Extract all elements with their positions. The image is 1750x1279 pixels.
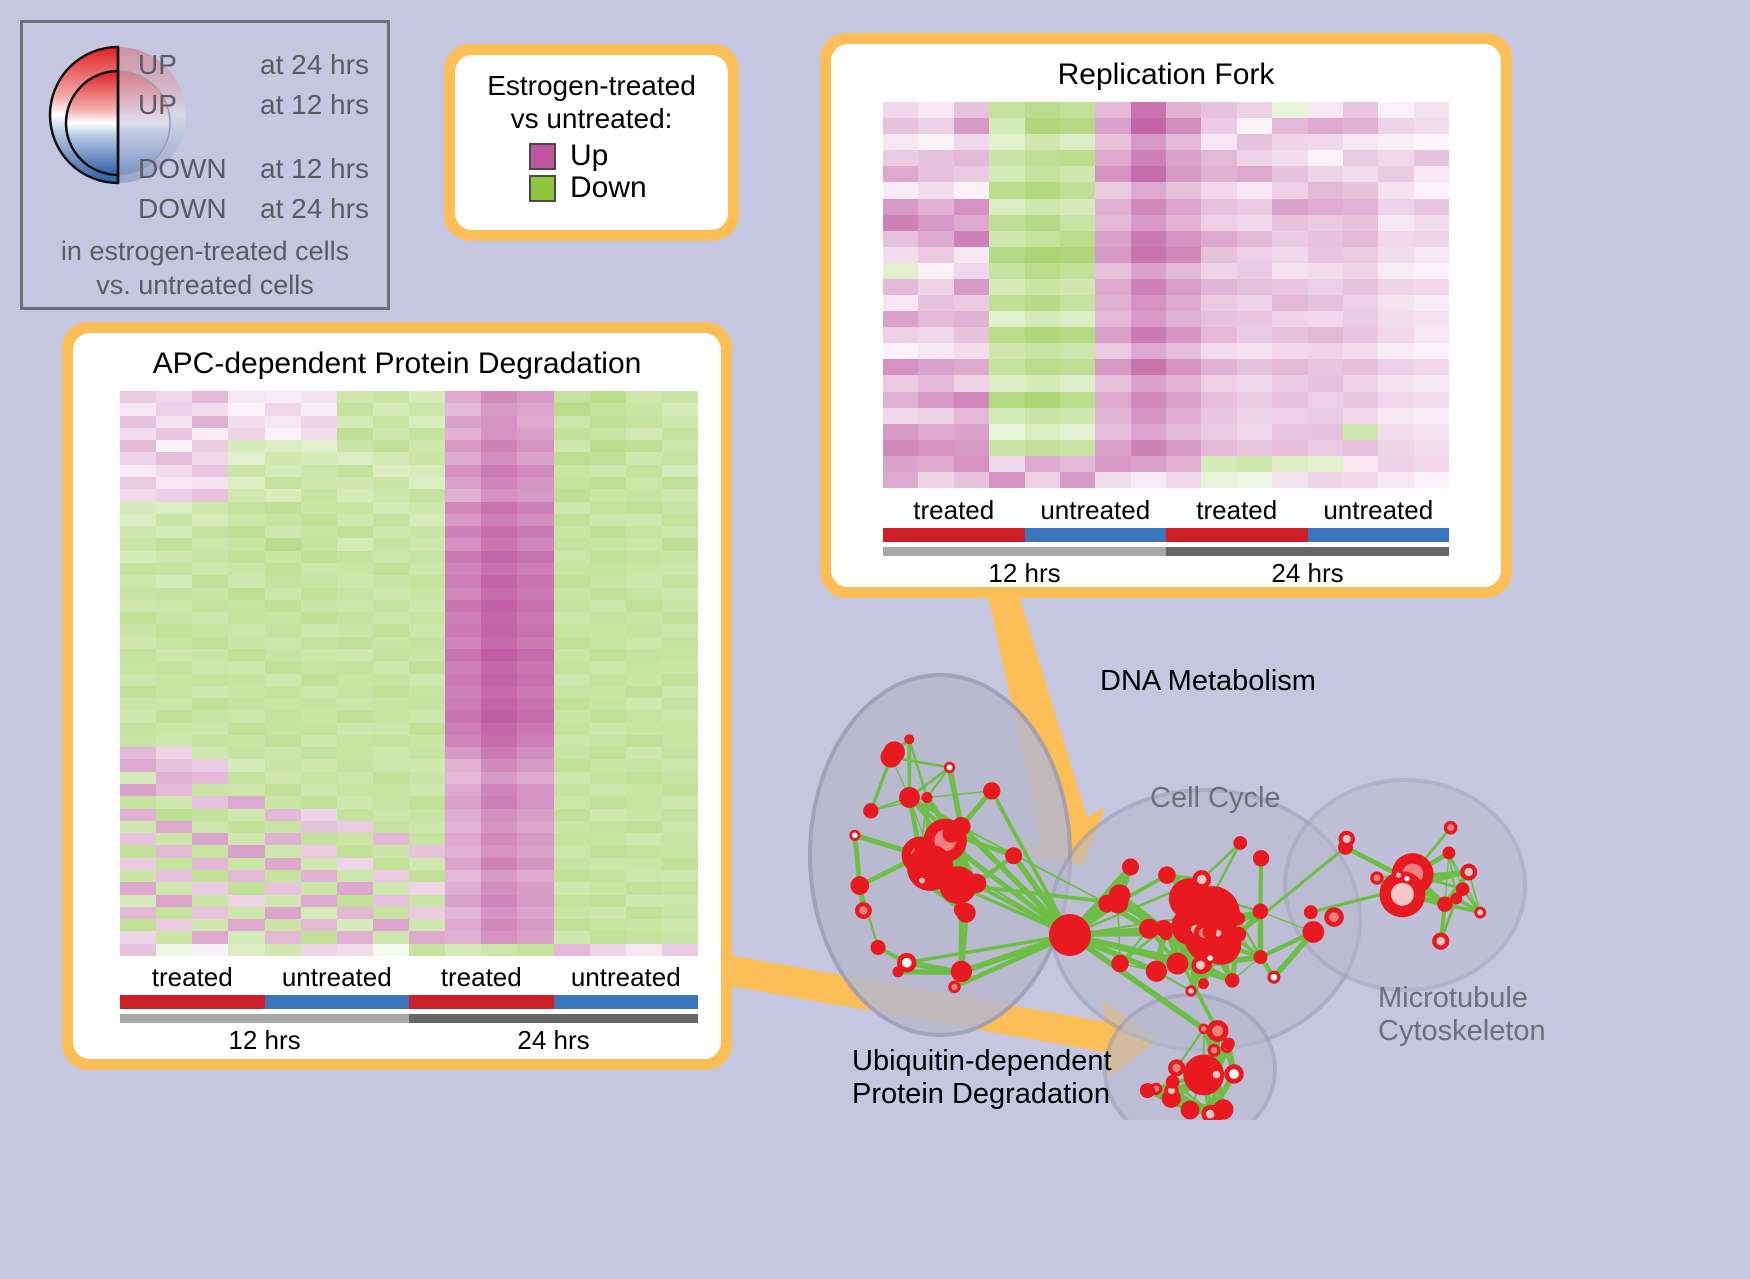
heatmap-cell: [409, 944, 445, 956]
heatmap-cell: [1272, 263, 1307, 279]
heatmap-cell: [1272, 166, 1307, 182]
heatmap-cell: [1272, 472, 1307, 488]
heatmap-cell: [481, 772, 517, 784]
heatmap-cell: [517, 465, 553, 477]
heatmap-cell: [1414, 102, 1449, 118]
heatmap-cell: [337, 428, 373, 440]
heatmap-cell: [590, 538, 626, 550]
heatmap-cell: [192, 858, 228, 870]
heatmap-cell: [662, 637, 698, 649]
heatmap-cell: [337, 723, 373, 735]
heatmap-cell: [1201, 263, 1236, 279]
heatmap-cell: [481, 882, 517, 894]
heatmap-cell: [517, 489, 553, 501]
heatmap-cell: [1272, 327, 1307, 343]
heatmap-cell: [445, 624, 481, 636]
heatmap-cell: [1095, 182, 1130, 198]
heatmap-cell: [373, 907, 409, 919]
heatmap-cell: [481, 796, 517, 808]
heatmap-cell: [156, 649, 192, 661]
heatmap-cell: [301, 637, 337, 649]
heatmap-cell: [517, 649, 553, 661]
heatmap-cell: [301, 440, 337, 452]
heatmap-cell: [1343, 166, 1378, 182]
heatmap-cell: [1308, 102, 1343, 118]
heatmap-cell: [120, 452, 156, 464]
heatmap-cell: [301, 809, 337, 821]
heatmap-cell: [481, 944, 517, 956]
heatmap-group-bar: [409, 995, 554, 1009]
heatmap-cell: [1272, 311, 1307, 327]
network-node: [884, 741, 905, 762]
heatmap-cell: [373, 735, 409, 747]
heatmap-cell: [1343, 295, 1378, 311]
heatmap-cell: [883, 182, 918, 198]
heatmap-cell: [918, 166, 953, 182]
heatmap-cell: [1378, 408, 1413, 424]
legend-swatch-up-icon: [529, 143, 556, 170]
heatmap-cell: [989, 279, 1024, 295]
heatmap-cell: [337, 784, 373, 796]
heatmap-cell: [517, 575, 553, 587]
heatmap-cell: [481, 845, 517, 857]
heatmap-cell: [883, 327, 918, 343]
heatmap-cell: [1414, 327, 1449, 343]
heatmap-cell: [1060, 456, 1095, 472]
heatmap-cell: [228, 735, 264, 747]
heatmap-cell: [120, 735, 156, 747]
key-direction-1: UP: [138, 91, 177, 119]
heatmap-cell: [1414, 247, 1449, 263]
heatmap-cell: [1414, 311, 1449, 327]
heatmap-cell: [554, 919, 590, 931]
cluster-label-microtubule-line2: Cytoskeleton: [1378, 1015, 1546, 1048]
heatmap-cell: [1272, 408, 1307, 424]
heatmap-cell: [120, 661, 156, 673]
heatmap-cell: [445, 858, 481, 870]
heatmap-cell: [156, 551, 192, 563]
heatmap-cell: [590, 833, 626, 845]
heatmap-cell: [554, 710, 590, 722]
heatmap-cell: [918, 327, 953, 343]
heatmap-cell: [1025, 295, 1060, 311]
heatmap-cell: [918, 215, 953, 231]
heatmap-cell: [883, 263, 918, 279]
heatmap-cell: [1166, 166, 1201, 182]
heatmap-cell: [590, 698, 626, 710]
heatmap-cell: [1414, 472, 1449, 488]
heatmap-cell: [1025, 408, 1060, 424]
heatmap-cell: [445, 637, 481, 649]
legend-label-down: Down: [570, 173, 647, 203]
heatmap-cell: [301, 661, 337, 673]
heatmap-cell: [1025, 424, 1060, 440]
heatmap-cell: [228, 612, 264, 624]
heatmap-cell: [156, 882, 192, 894]
heatmap-cell: [120, 747, 156, 759]
heatmap-cell: [1166, 424, 1201, 440]
heatmap-cell: [517, 391, 553, 403]
heatmap-cell: [409, 624, 445, 636]
heatmap-cell: [265, 809, 301, 821]
heatmap-cell: [1272, 279, 1307, 295]
heatmap-cell: [1308, 359, 1343, 375]
heatmap-cell: [445, 538, 481, 550]
heatmap-cell: [120, 882, 156, 894]
heatmap-cell: [301, 452, 337, 464]
heatmap-cell: [192, 465, 228, 477]
heatmap-cell: [1343, 408, 1378, 424]
heatmap-cell: [1201, 440, 1236, 456]
heatmap-cell: [1060, 279, 1095, 295]
heatmap-cell: [1060, 263, 1095, 279]
heatmap-cell: [409, 575, 445, 587]
heatmap-cell: [989, 392, 1024, 408]
heatmap-cell: [120, 833, 156, 845]
heatmap-cell: [918, 102, 953, 118]
network-node: [855, 902, 872, 919]
heatmap-cell: [1095, 279, 1130, 295]
heatmap-cell: [192, 710, 228, 722]
heatmap-cell: [554, 391, 590, 403]
heatmap-group-label: treated: [883, 496, 1025, 526]
heatmap-cell: [662, 428, 698, 440]
apc-axis: treateduntreatedtreateduntreated 12 hrs2…: [120, 963, 698, 1056]
network-node: [1198, 978, 1209, 989]
network-node: [850, 876, 869, 895]
heatmap-cell: [373, 919, 409, 931]
heatmap-cell: [156, 821, 192, 833]
heatmap-cell: [265, 649, 301, 661]
network-node: [863, 803, 878, 818]
heatmap-cell: [120, 784, 156, 796]
heatmap-cell: [156, 416, 192, 428]
heatmap-cell: [517, 858, 553, 870]
heatmap-cell: [156, 907, 192, 919]
heatmap-cell: [120, 919, 156, 931]
heatmap-cell: [989, 134, 1024, 150]
heatmap-cell: [517, 919, 553, 931]
heatmap-cell: [481, 514, 517, 526]
heatmap-cell: [265, 674, 301, 686]
heatmap-cell: [554, 452, 590, 464]
heatmap-cell: [1414, 440, 1449, 456]
heatmap-cell: [1414, 408, 1449, 424]
heatmap-cell: [517, 895, 553, 907]
heatmap-cell: [301, 710, 337, 722]
heatmap-cell: [1414, 182, 1449, 198]
heatmap-cell: [337, 907, 373, 919]
heatmap-cell: [662, 845, 698, 857]
heatmap-cell: [409, 870, 445, 882]
heatmap-cell: [192, 588, 228, 600]
heatmap-cell: [554, 858, 590, 870]
heatmap-cell: [337, 489, 373, 501]
network-node: [1206, 891, 1218, 903]
heatmap-cell: [301, 403, 337, 415]
heatmap-cell: [517, 870, 553, 882]
heatmap-cell: [662, 502, 698, 514]
heatmap-cell: [192, 833, 228, 845]
heatmap-cell: [662, 452, 698, 464]
heatmap-cell: [590, 870, 626, 882]
heatmap-cell: [1308, 215, 1343, 231]
heatmap-cell: [1272, 199, 1307, 215]
heatmap-cell: [373, 833, 409, 845]
heatmap-cell: [228, 563, 264, 575]
heatmap-cell: [1025, 392, 1060, 408]
heatmap-cell: [120, 563, 156, 575]
heatmap-cell: [989, 247, 1024, 263]
heatmap-cell: [373, 698, 409, 710]
heatmap-cell: [1095, 263, 1130, 279]
heatmap-cell: [156, 637, 192, 649]
heatmap-cell: [265, 575, 301, 587]
network-node: [904, 734, 914, 744]
heatmap-cell: [228, 895, 264, 907]
heatmap-cell: [1343, 182, 1378, 198]
heatmap-cell: [517, 514, 553, 526]
heatmap-cell: [373, 759, 409, 771]
heatmap-cell: [373, 477, 409, 489]
network-node: [1192, 870, 1211, 889]
heatmap-cell: [554, 735, 590, 747]
heatmap-cell: [1414, 199, 1449, 215]
heatmap-cell: [409, 514, 445, 526]
heatmap-cell: [662, 796, 698, 808]
heatmap-cell: [626, 735, 662, 747]
network-node: [956, 903, 976, 923]
heatmap-cell: [883, 456, 918, 472]
heatmap-cell: [662, 895, 698, 907]
network-node: [1267, 971, 1280, 984]
heatmap-cell: [1237, 295, 1272, 311]
heatmap-cell: [883, 472, 918, 488]
heatmap-cell: [554, 944, 590, 956]
heatmap-cell: [1343, 118, 1378, 134]
heatmap-cell: [156, 845, 192, 857]
heatmap-cell: [517, 931, 553, 943]
heatmap-cell: [120, 772, 156, 784]
cluster-label-cell-cycle: Cell Cycle: [1150, 782, 1281, 815]
heatmap-cell: [1131, 102, 1166, 118]
legend-swatch-down-icon: [529, 175, 556, 202]
heatmap-cell: [662, 440, 698, 452]
heatmap-cell: [192, 391, 228, 403]
heatmap-cell: [1343, 343, 1378, 359]
heatmap-cell: [1025, 343, 1060, 359]
heatmap-cell: [409, 428, 445, 440]
heatmap-cell: [1343, 215, 1378, 231]
heatmap-cell: [1025, 327, 1060, 343]
heatmap-cell: [626, 944, 662, 956]
heatmap-cell: [1237, 472, 1272, 488]
heatmap-cell: [626, 649, 662, 661]
heatmap-cell: [1166, 327, 1201, 343]
heatmap-cell: [1272, 359, 1307, 375]
heatmap-cell: [918, 424, 953, 440]
heatmap-cell: [156, 759, 192, 771]
heatmap-cell: [1201, 392, 1236, 408]
heatmap-cell: [445, 575, 481, 587]
heatmap-cell: [626, 502, 662, 514]
heatmap-cell: [626, 440, 662, 452]
heatmap-cell: [373, 391, 409, 403]
heatmap-cell: [1025, 102, 1060, 118]
heatmap-cell: [1378, 375, 1413, 391]
heatmap-cell: [373, 870, 409, 882]
heatmap-cell: [373, 416, 409, 428]
heatmap-cell: [156, 403, 192, 415]
heatmap-cell: [1060, 472, 1095, 488]
heatmap-cell: [228, 624, 264, 636]
heatmap-group-label: treated: [409, 963, 554, 993]
heatmap-cell: [626, 686, 662, 698]
heatmap-cell: [590, 416, 626, 428]
heatmap-cell: [662, 882, 698, 894]
heatmap-cell: [1025, 118, 1060, 134]
heatmap-cell: [883, 295, 918, 311]
heatmap-cell: [301, 477, 337, 489]
heatmap-cell: [918, 359, 953, 375]
heatmap-cell: [301, 870, 337, 882]
heatmap-cell: [883, 199, 918, 215]
heatmap-cell: [192, 428, 228, 440]
heatmap-cell: [989, 295, 1024, 311]
heatmap-cell: [626, 821, 662, 833]
heatmap-cell: [156, 391, 192, 403]
heatmap-cell: [1095, 199, 1130, 215]
heatmap-cell: [481, 575, 517, 587]
heatmap-cell: [626, 551, 662, 563]
heatmap-cell: [337, 833, 373, 845]
heatmap-cell: [554, 440, 590, 452]
heatmap-cell: [481, 637, 517, 649]
heatmap-cell: [1308, 247, 1343, 263]
heatmap-cell: [1131, 343, 1166, 359]
heatmap-cell: [626, 845, 662, 857]
heatmap-cell: [590, 465, 626, 477]
heatmap-cell: [228, 723, 264, 735]
heatmap-cell: [626, 674, 662, 686]
heatmap-cell: [1025, 472, 1060, 488]
heatmap-cell: [409, 563, 445, 575]
heatmap-cell: [1201, 166, 1236, 182]
heatmap-cell: [626, 772, 662, 784]
heatmap-cell: [156, 833, 192, 845]
heatmap-cell: [517, 477, 553, 489]
heatmap-cell: [1378, 102, 1413, 118]
heatmap-cell: [301, 588, 337, 600]
heatmap-cell: [1272, 440, 1307, 456]
heatmap-cell: [554, 833, 590, 845]
heatmap-cell: [590, 686, 626, 698]
heatmap-cell: [481, 416, 517, 428]
heatmap-cell: [554, 931, 590, 943]
heatmap-cell: [1272, 215, 1307, 231]
heatmap-cell: [265, 624, 301, 636]
heatmap-cell: [1343, 102, 1378, 118]
heatmap-cell: [554, 821, 590, 833]
heatmap-cell: [1131, 247, 1166, 263]
heatmap-cell: [337, 526, 373, 538]
heatmap-group-bar: [1308, 528, 1450, 542]
heatmap-cell: [1308, 392, 1343, 408]
heatmap-cell: [1166, 472, 1201, 488]
heatmap-cell: [192, 784, 228, 796]
heatmap-cell: [156, 723, 192, 735]
heatmap-cell: [517, 452, 553, 464]
heatmap-cell: [409, 723, 445, 735]
heatmap-cell: [517, 661, 553, 673]
network-node: [1122, 859, 1139, 876]
heatmap-cell: [626, 403, 662, 415]
heatmap-cell: [626, 465, 662, 477]
heatmap-cell: [1378, 247, 1413, 263]
heatmap-cell: [265, 931, 301, 943]
heatmap-cell: [1414, 295, 1449, 311]
heatmap-cell: [481, 907, 517, 919]
heatmap-cell: [265, 391, 301, 403]
heatmap-cell: [120, 465, 156, 477]
heatmap-cell: [156, 698, 192, 710]
heatmap-cell: [1025, 279, 1060, 295]
heatmap-cell: [626, 784, 662, 796]
heatmap-cell: [1166, 263, 1201, 279]
heatmap-cell: [626, 907, 662, 919]
heatmap-cell: [1025, 215, 1060, 231]
heatmap-cell: [120, 809, 156, 821]
heatmap-cell: [192, 809, 228, 821]
heatmap-cell: [373, 489, 409, 501]
heatmap-cell: [1166, 408, 1201, 424]
network-node: [1224, 1064, 1244, 1084]
heatmap-cell: [192, 477, 228, 489]
heatmap-cell: [626, 588, 662, 600]
network-node: [1181, 1101, 1200, 1120]
heatmap-cell: [517, 698, 553, 710]
heatmap-cell: [445, 674, 481, 686]
heatmap-cell: [1378, 456, 1413, 472]
heatmap-cell: [517, 747, 553, 759]
heatmap-cell: [1060, 199, 1095, 215]
heatmap-cell: [409, 796, 445, 808]
heatmap-cell: [918, 231, 953, 247]
heatmap-cell: [554, 551, 590, 563]
key-time-3: at 24 hrs: [260, 195, 369, 223]
heatmap-cell: [156, 895, 192, 907]
legend-item-down: Down: [529, 173, 728, 203]
heatmap-cell: [481, 686, 517, 698]
heatmap-cell: [409, 858, 445, 870]
heatmap-cell: [337, 477, 373, 489]
heatmap-cell: [590, 723, 626, 735]
heatmap-cell: [481, 526, 517, 538]
heatmap-cell: [590, 588, 626, 600]
heatmap-cell: [337, 624, 373, 636]
heatmap-cell: [1378, 472, 1413, 488]
heatmap-cell: [590, 600, 626, 612]
heatmap-cell: [337, 588, 373, 600]
heatmap-cell: [301, 931, 337, 943]
heatmap-cell: [228, 403, 264, 415]
heatmap-cell: [1095, 408, 1130, 424]
heatmap-cell: [445, 440, 481, 452]
heatmap-cell: [626, 477, 662, 489]
heatmap-cell: [228, 710, 264, 722]
heatmap-cell: [265, 833, 301, 845]
heatmap-cell: [409, 845, 445, 857]
